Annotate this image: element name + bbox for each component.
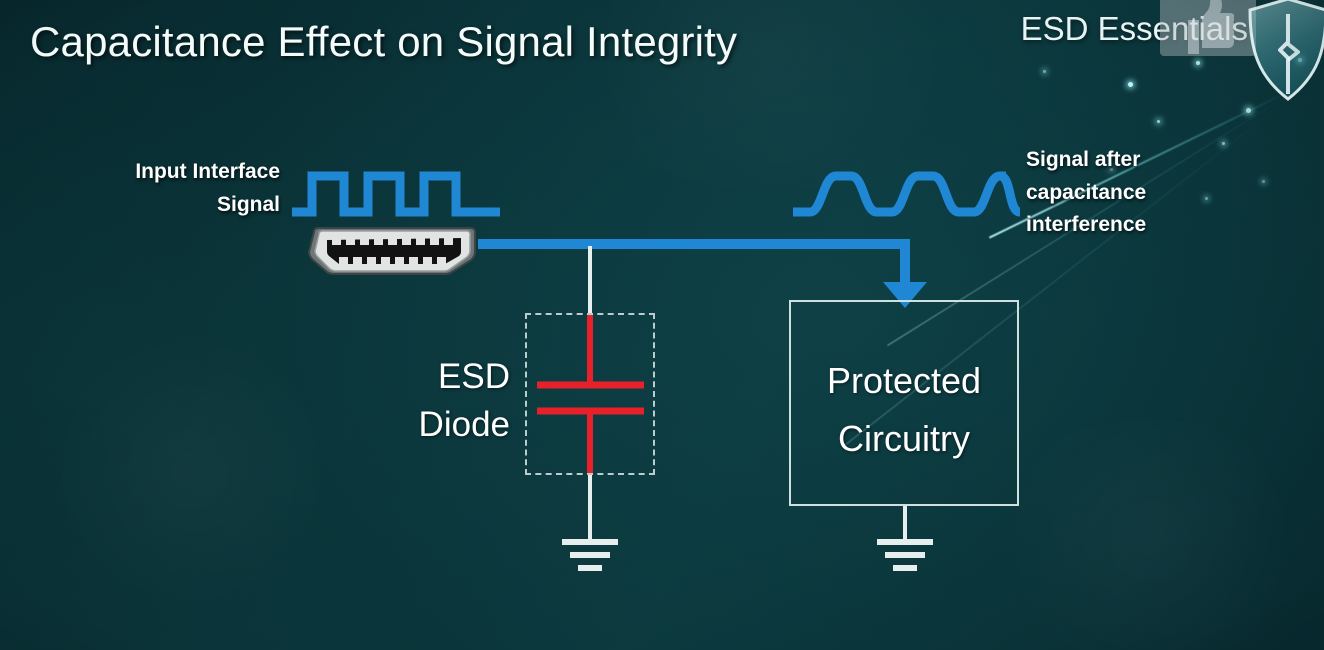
circuit-diagram [0,0,1324,650]
degraded-waveform-tail [1000,176,1020,212]
degraded-waveform [793,176,1006,212]
esd-diode-label: ESDDiode [370,353,510,450]
ground-symbol-esd-icon [562,542,618,568]
hdmi-connector-icon [309,228,475,274]
protected-circuitry-label: ProtectedCircuitry [790,352,1018,467]
slide-canvas: Capacitance Effect on Signal Integrity E… [0,0,1324,650]
esd-diode-boundary [525,313,655,475]
input-square-waveform [292,176,500,212]
ground-symbol-protected-icon [877,542,933,568]
signal-trace [478,244,905,284]
